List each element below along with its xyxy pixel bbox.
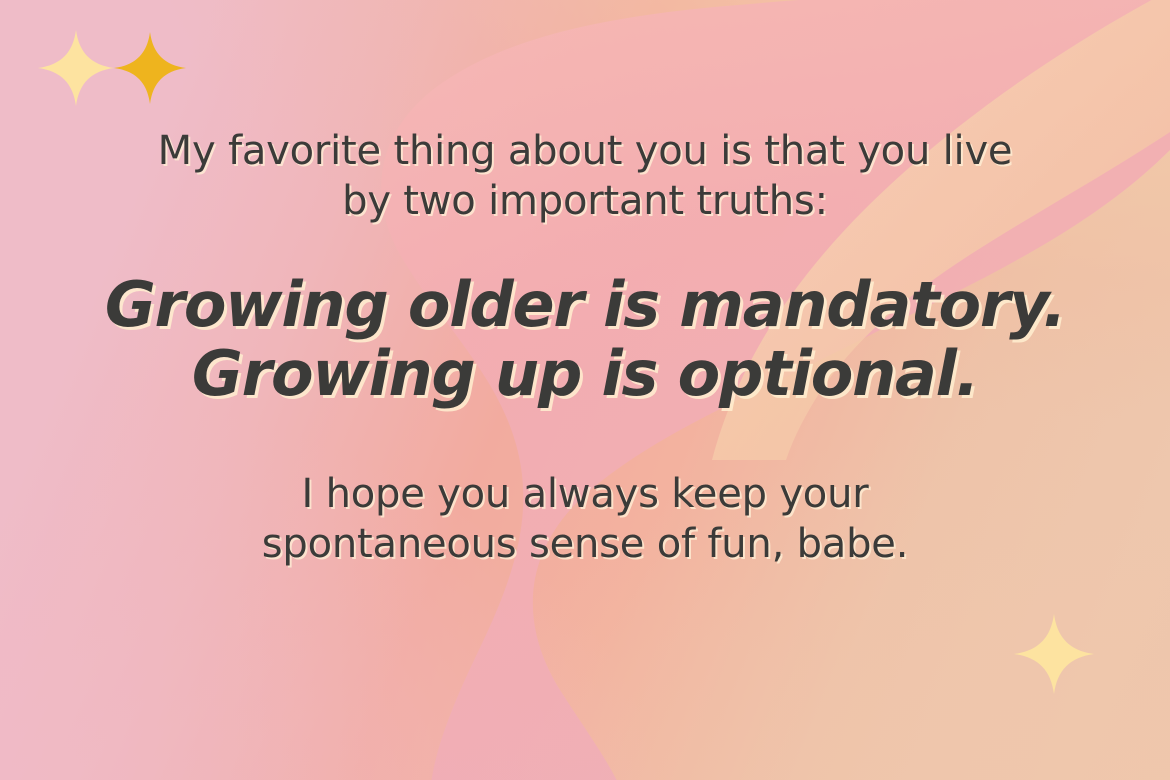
card-text-stack: My favorite thing about you is that you … [0, 0, 1170, 780]
card-intro-text: My favorite thing about you is that you … [135, 126, 1035, 226]
card-outro-text: I hope you always keep your spontaneous … [175, 469, 995, 569]
greeting-card: My favorite thing about you is that you … [0, 0, 1170, 780]
card-quote-text: Growing older is mandatory. Growing up i… [95, 270, 1075, 409]
